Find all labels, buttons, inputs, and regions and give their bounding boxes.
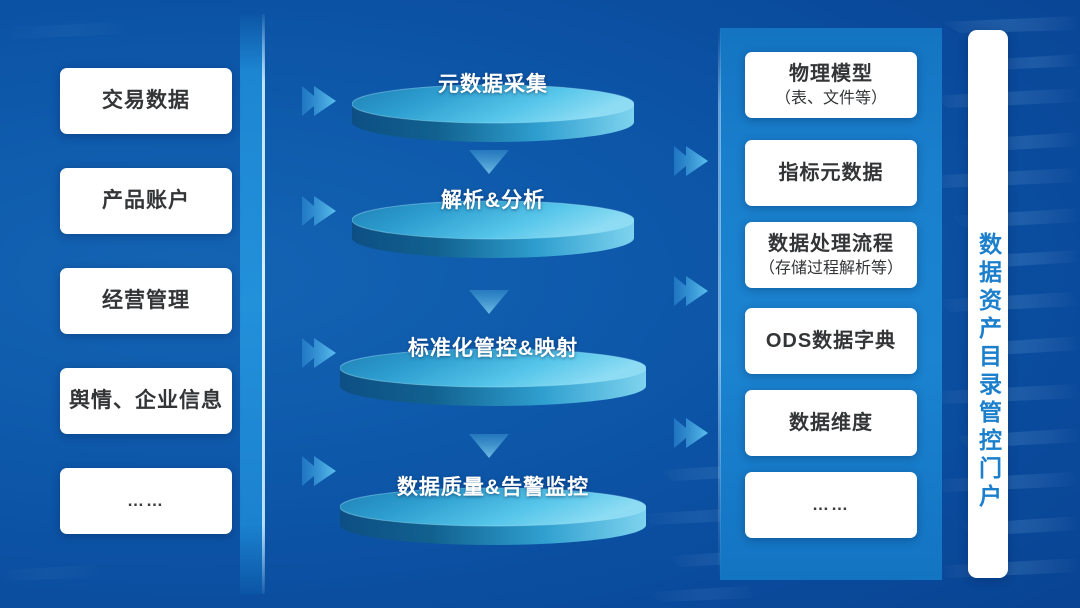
source-card-label: 交易数据 <box>102 88 190 114</box>
output-card-label: ODS数据字典 <box>766 329 896 354</box>
pipeline-stage-4[interactable]: 数据质量&告警监控 <box>340 487 646 545</box>
output-card-2[interactable]: 指标元数据 <box>745 140 917 206</box>
source-card-label: …… <box>127 490 165 511</box>
output-card-label: 数据处理流程 <box>768 232 894 257</box>
arrow-right-icon <box>296 78 342 124</box>
pipeline-stage-label: 数据质量&告警监控 <box>340 471 646 501</box>
output-card-6-ellipsis[interactable]: …… <box>745 472 917 538</box>
output-card-sublabel: （存储过程解析等） <box>759 259 903 279</box>
source-card-2[interactable]: 产品账户 <box>60 168 232 234</box>
arrow-right-icon <box>296 188 342 234</box>
arrow-down-icon <box>467 288 511 316</box>
output-card-3[interactable]: 数据处理流程 （存储过程解析等） <box>745 222 917 288</box>
source-card-label: 经营管理 <box>102 288 190 314</box>
output-card-label: 指标元数据 <box>779 161 884 186</box>
arrow-right-icon <box>296 448 342 494</box>
left-divider-band <box>240 14 264 594</box>
source-card-label: 产品账户 <box>102 188 190 214</box>
pipeline-stage-3[interactable]: 标准化管控&映射 <box>340 348 646 406</box>
arrow-down-icon <box>467 148 511 176</box>
source-card-3[interactable]: 经营管理 <box>60 268 232 334</box>
arrow-down-icon <box>467 432 511 460</box>
output-card-5[interactable]: 数据维度 <box>745 390 917 456</box>
output-panel-edge-highlight <box>718 28 721 580</box>
arrow-right-icon <box>668 138 714 184</box>
source-card-4[interactable]: 舆情、企业信息 <box>60 368 232 434</box>
left-divider-highlight <box>262 14 265 594</box>
source-card-5-ellipsis[interactable]: …… <box>60 468 232 534</box>
arrow-right-icon <box>296 330 342 376</box>
source-card-label: 舆情、企业信息 <box>69 388 223 414</box>
pipeline-stage-2[interactable]: 解析&分析 <box>352 200 634 258</box>
pipeline-stage-label: 元数据采集 <box>352 68 634 98</box>
pipeline-stage-1[interactable]: 元数据采集 <box>352 84 634 142</box>
output-card-label: 数据维度 <box>789 411 873 436</box>
output-card-4[interactable]: ODS数据字典 <box>745 308 917 374</box>
output-card-label: …… <box>812 494 850 515</box>
source-card-1[interactable]: 交易数据 <box>60 68 232 134</box>
pipeline-stage-label: 解析&分析 <box>352 184 634 214</box>
portal-label: 数据资产目录管控门户 <box>977 232 1000 512</box>
portal-bar[interactable]: 数据资产目录管控门户 <box>968 30 1008 578</box>
output-card-label: 物理模型 <box>789 62 873 87</box>
pipeline-stage-label: 标准化管控&映射 <box>340 332 646 362</box>
output-card-sublabel: （表、文件等） <box>775 89 887 109</box>
diagram-canvas: 交易数据 产品账户 经营管理 舆情、企业信息 …… <box>0 0 1080 608</box>
arrow-right-icon <box>668 268 714 314</box>
arrow-right-icon <box>668 410 714 456</box>
output-card-1[interactable]: 物理模型 （表、文件等） <box>745 52 917 118</box>
